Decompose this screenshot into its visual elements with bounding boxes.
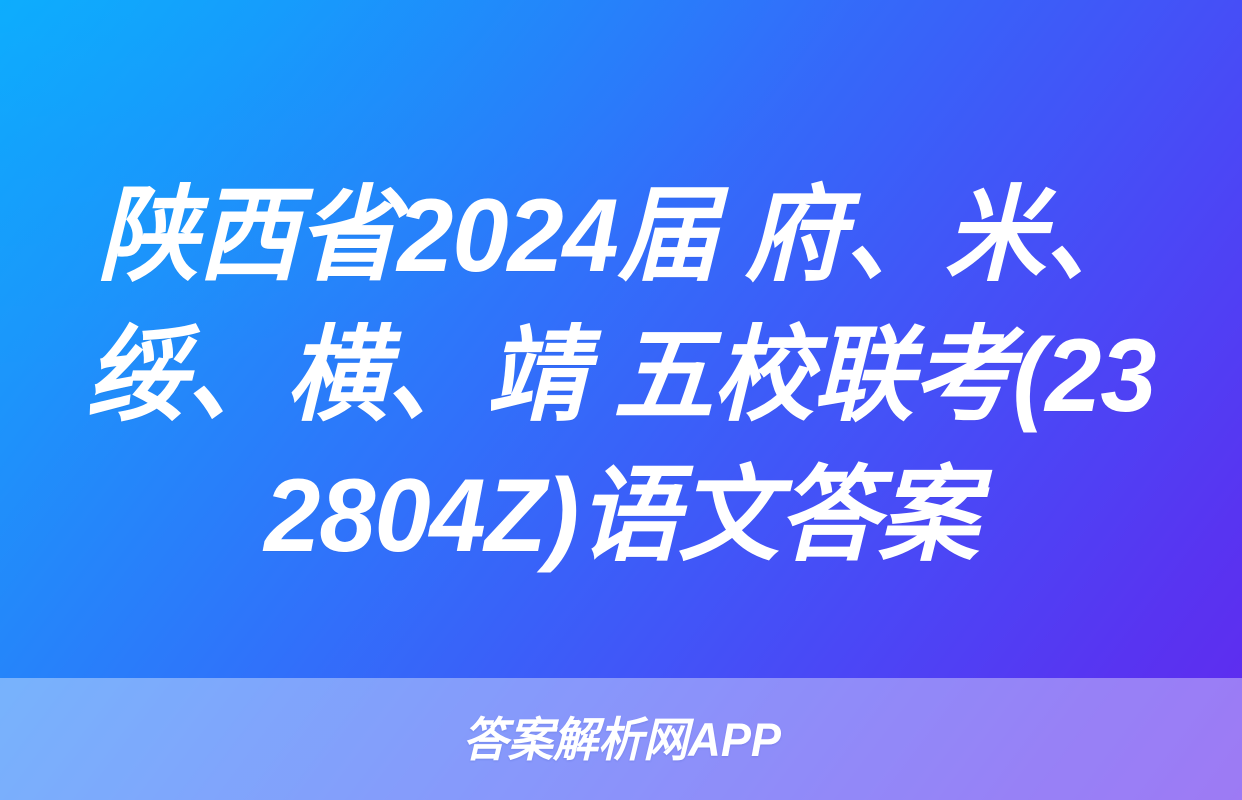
watermark-band: 答案解析网APP — [0, 678, 1242, 800]
page-title: 陕西省2024届 府、米、 绥、横、靖 五校联考(23 2804Z)语文答案 — [0, 166, 1242, 586]
title-line-1: 陕西省2024届 府、米、 — [69, 166, 1173, 306]
app-brand-label: 答案解析网APP — [463, 716, 781, 763]
title-line-2: 绥、横、靖 五校联考(23 — [69, 306, 1173, 446]
poster-canvas: 陕西省2024届 府、米、 绥、横、靖 五校联考(23 2804Z)语文答案 答… — [0, 0, 1242, 800]
title-line-3: 2804Z)语文答案 — [69, 446, 1173, 586]
